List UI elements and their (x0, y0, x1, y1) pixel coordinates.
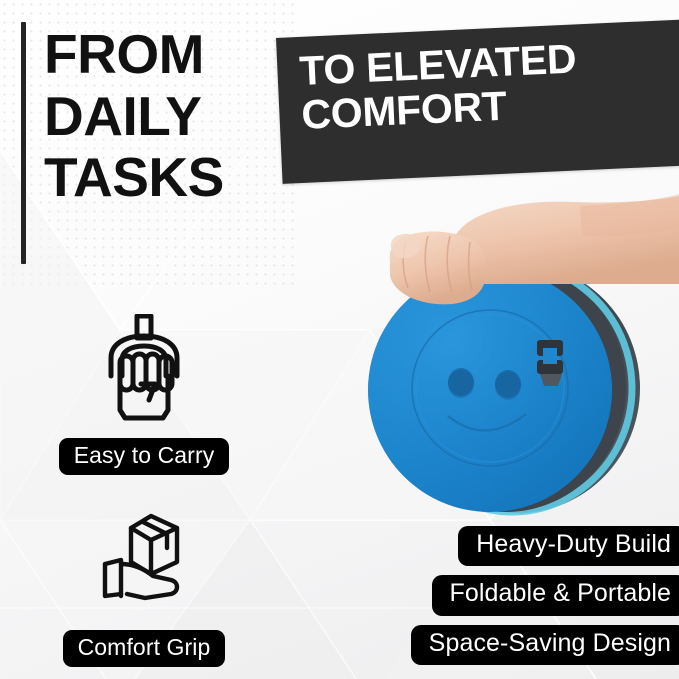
feature-easy-to-carry: Easy to Carry (24, 314, 264, 475)
page-title: FROM DAILY TASKS (44, 24, 304, 209)
headline-line-3: TASKS (44, 147, 304, 209)
benefit-heavy-duty-build: Heavy-Duty Build (458, 526, 679, 567)
feature-label-easy-to-carry: Easy to Carry (59, 438, 230, 475)
banner-text: TO ELEVATED COMFORT (299, 31, 679, 138)
benefit-space-saving-design: Space-Saving Design (411, 625, 679, 666)
hand-holding-box-icon (89, 506, 199, 618)
product-image (330, 188, 679, 528)
product-marketing-image: FROM DAILY TASKS TO ELEVATED COMFORT (0, 0, 679, 679)
headline-line-1: FROM (44, 24, 304, 86)
banner-elevated-comfort: TO ELEVATED COMFORT (276, 19, 679, 184)
accent-bar (21, 22, 26, 264)
feature-label-comfort-grip: Comfort Grip (63, 630, 226, 667)
headline-line-2: DAILY (44, 86, 304, 148)
benefit-list: Heavy-Duty Build Foldable & Portable Spa… (411, 526, 679, 666)
benefit-foldable-portable: Foldable & Portable (432, 575, 679, 616)
hand-grip-handle-icon (89, 314, 199, 426)
feature-comfort-grip: Comfort Grip (24, 506, 264, 667)
